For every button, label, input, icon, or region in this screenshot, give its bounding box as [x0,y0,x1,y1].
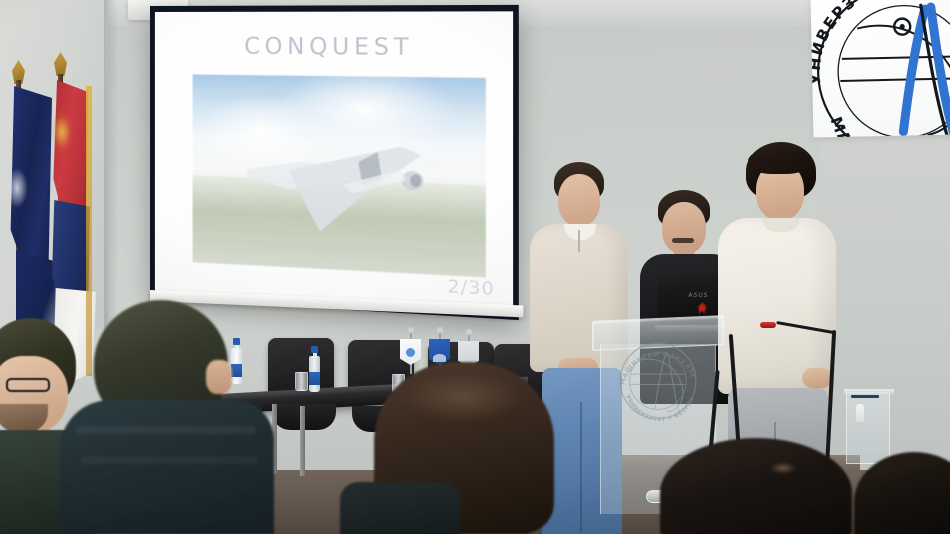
long-hair-highlight [402,372,522,422]
side-table-item [851,395,879,398]
desk-flag-tip-icon [466,329,472,335]
laptop-brand-label: ASUS [688,292,708,299]
puffer-seam [80,456,258,464]
desk-flag-emblem-icon [433,354,446,362]
desk-flag-tip-icon [408,327,414,333]
audience-far-right [854,452,950,534]
presentation-photo: УНИВЕРЗ МАШИНСКИ ФА CONQUEST [0,0,950,534]
lectern-emblem-text-top: МАШИНСКИ ФАКУЛТЕТ [615,338,698,386]
presenter-center-moustache-icon [672,238,694,243]
presenter-center-head [662,202,706,254]
desk-flag-tip-icon [437,327,443,333]
eyeglasses-icon [6,378,50,392]
svg-text:МАШИНСКИ ФАКУЛТЕТ: МАШИНСКИ ФАКУЛТЕТ [615,338,698,386]
audience-hooded-ear [206,360,232,394]
sanitizer-bottle [856,404,864,422]
bottle-label [309,372,320,385]
presenter-right-hair-fringe [748,148,810,174]
audience-far-right-hair [854,452,950,534]
water-bottle[interactable] [309,346,320,392]
audience-right-crown [770,462,796,474]
audience-right-hair [660,438,852,534]
rog-logo-icon [697,302,707,314]
desk-flag-emblem-icon [406,348,415,357]
drinking-glass[interactable] [295,372,308,391]
table-leg [300,406,305,476]
cable [776,321,834,334]
puffer-seam [76,426,256,434]
audience-center-long-hair [356,362,586,534]
presenter-left-zip [578,230,580,252]
bottle-cap [311,346,318,353]
audience-center-shoulder [340,482,460,534]
audience-hooded-puffer [60,400,274,534]
cable-red-connector [760,322,776,328]
audience-right-dark [660,438,860,534]
audience-left-hooded [66,300,266,534]
lectern-emblem-icon: МАШИНСКИ ФАКУЛТЕТ УНИВЕРЗИТЕТ У БЕОГРАДУ [615,338,701,424]
